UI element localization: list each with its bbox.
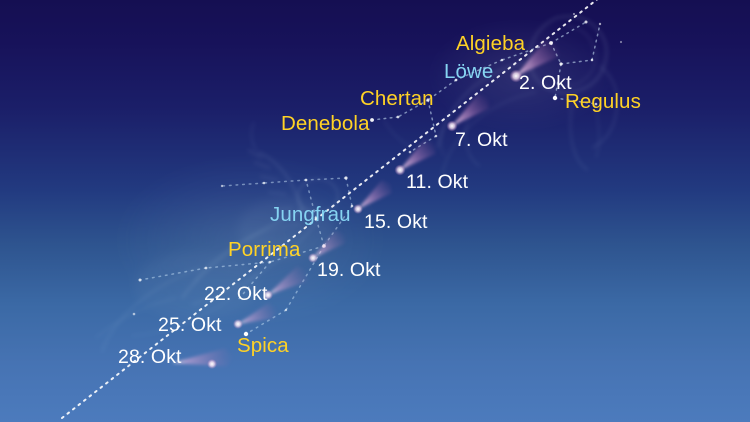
constellation-label-leo: Löwe: [444, 62, 493, 83]
date-label-15-okt: 15. Okt: [364, 213, 428, 233]
star-label-algieba: Algieba: [456, 34, 525, 55]
date-label-28-okt: 28. Okt: [118, 348, 182, 368]
comet-markers: [171, 35, 564, 372]
date-label-25-okt: 25. Okt: [158, 316, 222, 336]
date-label-2-okt: 2. Okt: [519, 74, 572, 94]
star-label-chertan: Chertan: [360, 89, 434, 110]
date-label-19-okt: 19. Okt: [317, 261, 381, 281]
star-label-regulus: Regulus: [565, 92, 641, 113]
virgo-figure: [96, 122, 390, 352]
star-label-spica: Spica: [237, 336, 289, 357]
star-chart: Algieba Regulus Chertan Denebola Porrima…: [0, 0, 750, 422]
date-label-7-okt: 7. Okt: [455, 131, 508, 151]
star-label-porrima: Porrima: [228, 240, 300, 261]
date-label-22-okt: 22. Okt: [204, 285, 268, 305]
date-label-11-okt: 11. Okt: [406, 173, 468, 193]
star-label-denebola: Denebola: [281, 114, 370, 135]
constellation-label-virgo: Jungfrau: [270, 205, 351, 226]
